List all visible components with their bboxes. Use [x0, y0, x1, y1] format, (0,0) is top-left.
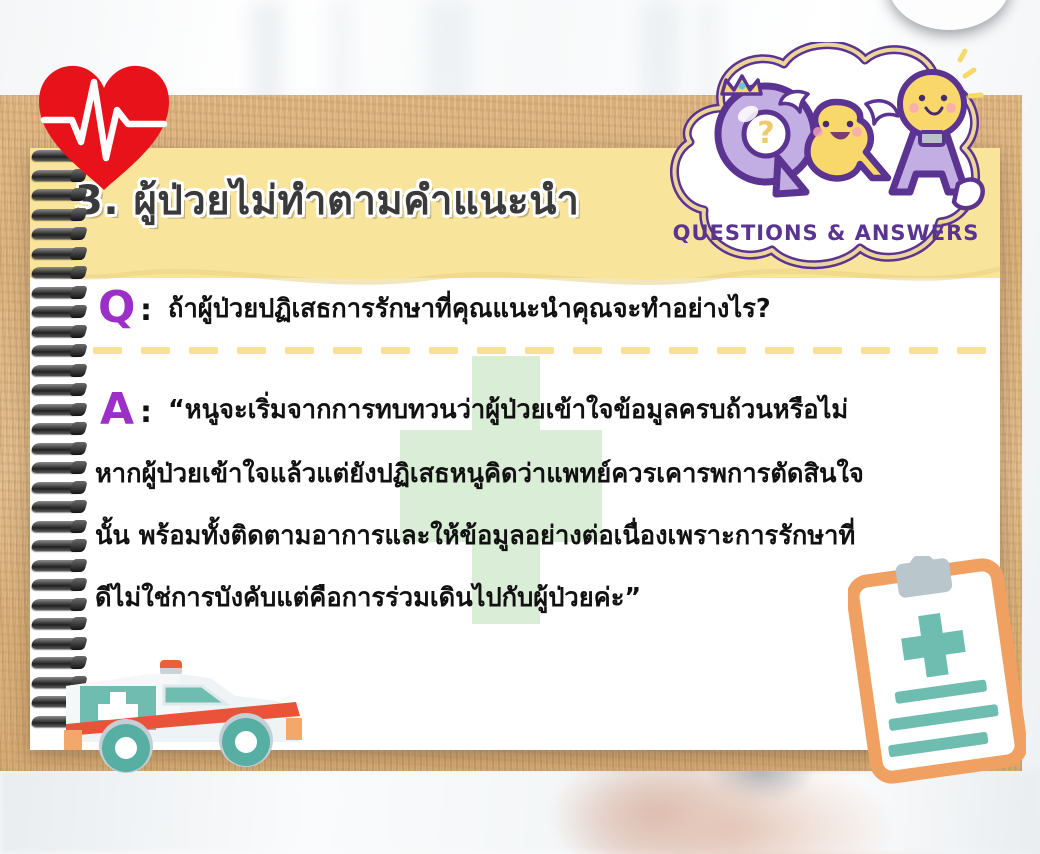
answer-line: นั้น พร้อมทั้งติดตามอาการและให้ข้อมูลอย่… [95, 524, 855, 550]
answer-line: ดีไม่ใช่การบังคับแต่คือการร่วมเดินไปกับผ… [95, 586, 641, 612]
question-text: ถ้าผู้ป่วยปฏิเสธการรักษาที่คุณแนะนำคุณจะ… [168, 297, 978, 323]
answer-marker: A [100, 388, 134, 432]
spiral-ring [30, 228, 85, 239]
spiral-ring [30, 287, 85, 298]
answer-line: “หนูจะเริ่มจากการทบทวนว่าผู้ป่วยเข้าใจข้… [168, 398, 848, 424]
medical-clipboard-icon [848, 556, 1026, 786]
spiral-ring [30, 443, 85, 454]
spiral-ring [30, 384, 85, 395]
spiral-ring [30, 209, 85, 220]
question-marker: Q [98, 286, 135, 330]
spiral-ring [30, 618, 85, 629]
spiral-ring [30, 560, 85, 571]
dashed-divider [93, 347, 993, 354]
question-colon: : [140, 296, 152, 326]
spiral-ring [30, 326, 85, 337]
qa-badge: ? [660, 42, 990, 270]
ambulance-icon [60, 630, 330, 780]
spiral-ring [30, 365, 85, 376]
badge-caption: QUESTIONS & ANSWERS [673, 221, 980, 245]
heartbeat-icon [32, 58, 176, 194]
spiral-ring [30, 482, 85, 493]
answer-line: หากผู้ป่วยเข้าใจแล้วแต่ยังปฏิเสธหนูคิดว่… [95, 462, 864, 488]
answer-colon: : [140, 398, 152, 428]
spiral-ring [30, 306, 85, 317]
spiral-ring [30, 599, 85, 610]
spiral-ring [30, 540, 85, 551]
slide-canvas: 3. ผู้ป่วยไม่ทำตามคำแนะนำ Q : ถ้าผู้ป่วย… [0, 0, 1040, 854]
spiral-ring [30, 501, 85, 512]
spiral-ring [30, 345, 85, 356]
spiral-ring [30, 521, 85, 532]
spiral-ring [30, 248, 85, 259]
badge-question-mark: ? [757, 116, 774, 151]
spiral-ring [30, 462, 85, 473]
spiral-ring [30, 404, 85, 415]
spiral-ring [30, 579, 85, 590]
spiral-ring [30, 267, 85, 278]
spiral-ring [30, 423, 85, 434]
